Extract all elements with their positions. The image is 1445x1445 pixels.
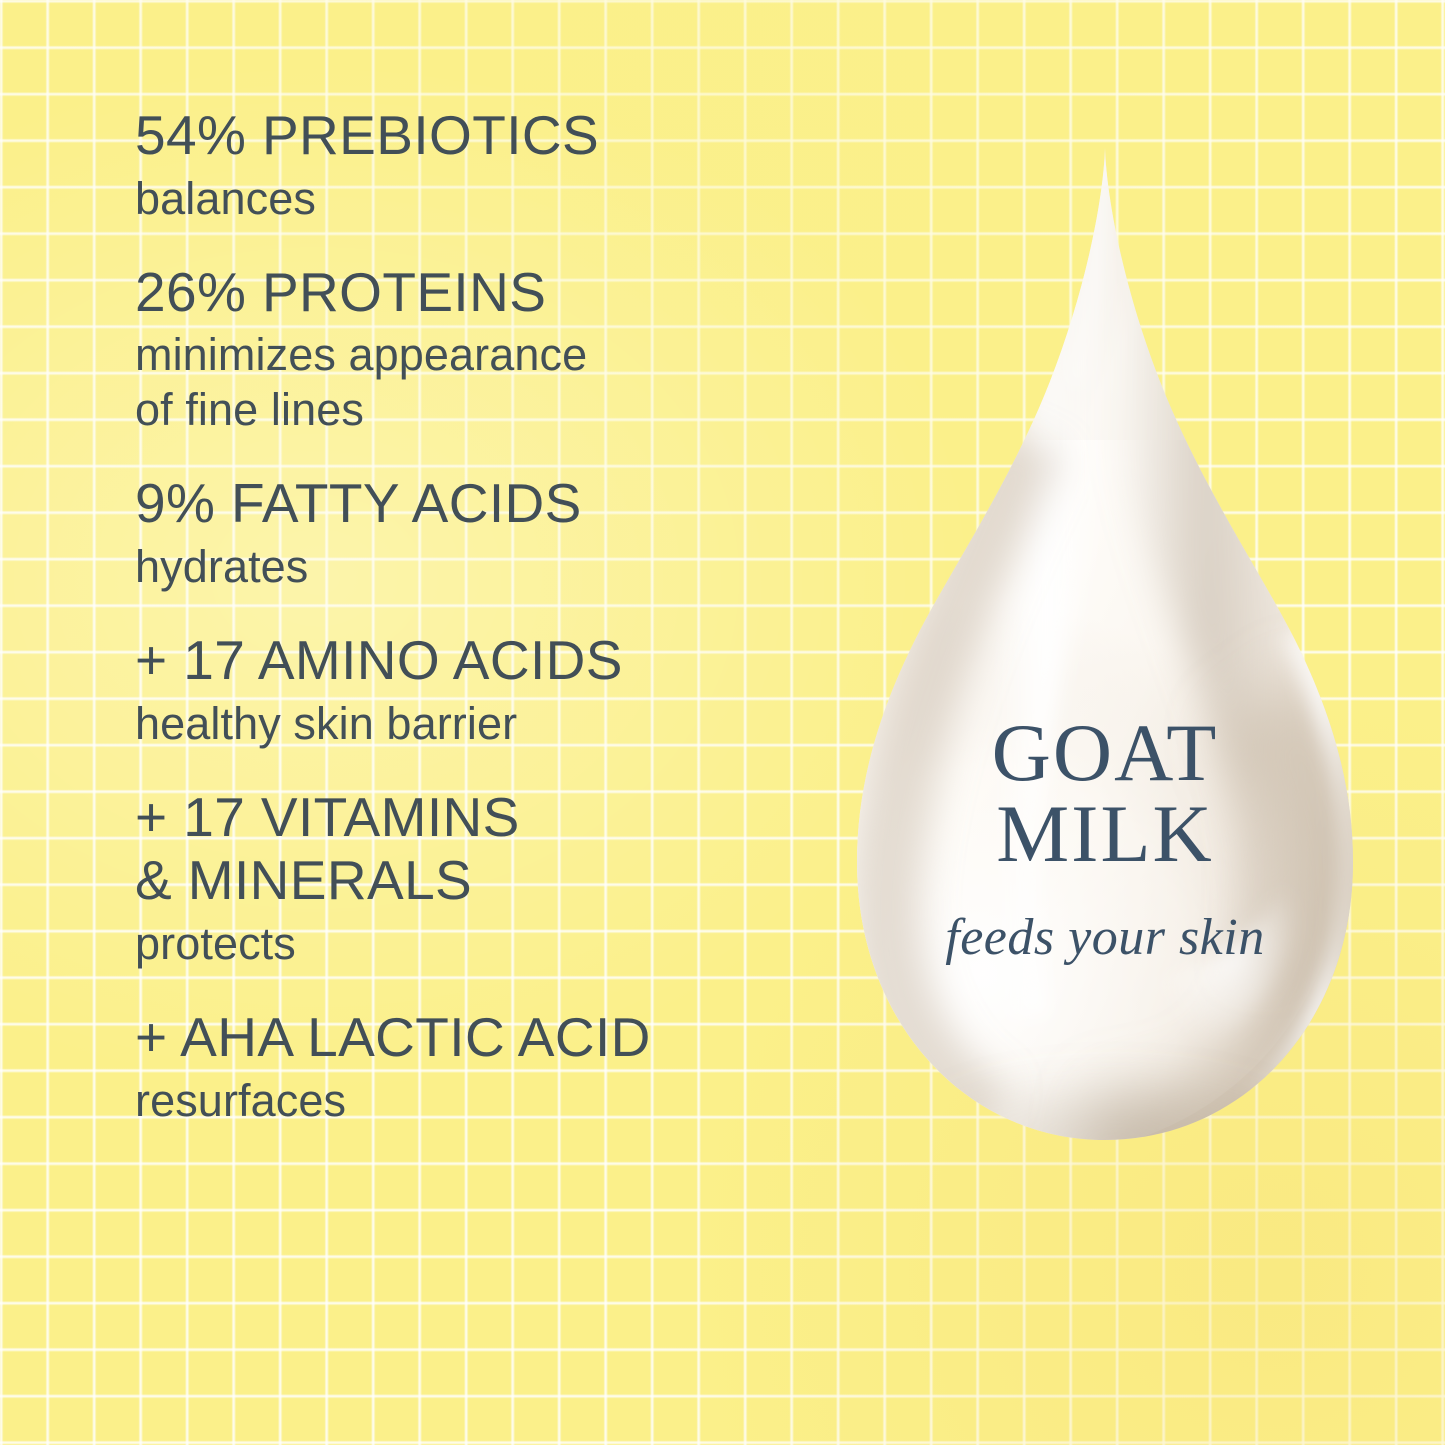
benefit-subtext: balances — [135, 172, 815, 227]
benefit-item: 9% FATTY ACIDS hydrates — [135, 472, 815, 595]
benefits-list: 54% PREBIOTICS balances 26% PROTEINS min… — [135, 104, 815, 1129]
benefit-headline: 9% FATTY ACIDS — [135, 472, 815, 536]
benefit-item: + AHA LACTIC ACID resurfaces — [135, 1006, 815, 1129]
milk-droplet-illustration: GOAT MILK feeds your skin — [795, 140, 1415, 1160]
benefit-subtext: hydrates — [135, 540, 815, 595]
benefit-subtext: protects — [135, 917, 815, 972]
benefit-item: 26% PROTEINS minimizes appearance of fin… — [135, 261, 815, 439]
benefit-headline: + AHA LACTIC ACID — [135, 1006, 815, 1070]
benefit-item: + 17 AMINO ACIDS healthy skin barrier — [135, 629, 815, 752]
droplet-top-wash — [795, 140, 1415, 440]
benefit-subtext: resurfaces — [135, 1074, 815, 1129]
product-benefits-graphic: 54% PREBIOTICS balances 26% PROTEINS min… — [0, 0, 1445, 1445]
benefit-headline: 26% PROTEINS — [135, 261, 815, 325]
benefit-headline: + 17 VITAMINS & MINERALS — [135, 786, 815, 914]
benefit-subtext: healthy skin barrier — [135, 697, 815, 752]
benefit-headline: 54% PREBIOTICS — [135, 104, 815, 168]
benefit-subtext: minimizes appearance of fine lines — [135, 328, 815, 438]
benefit-item: + 17 VITAMINS & MINERALS protects — [135, 786, 815, 972]
milk-droplet-icon — [795, 140, 1415, 1160]
benefit-item: 54% PREBIOTICS balances — [135, 104, 815, 227]
benefit-headline: + 17 AMINO ACIDS — [135, 629, 815, 693]
